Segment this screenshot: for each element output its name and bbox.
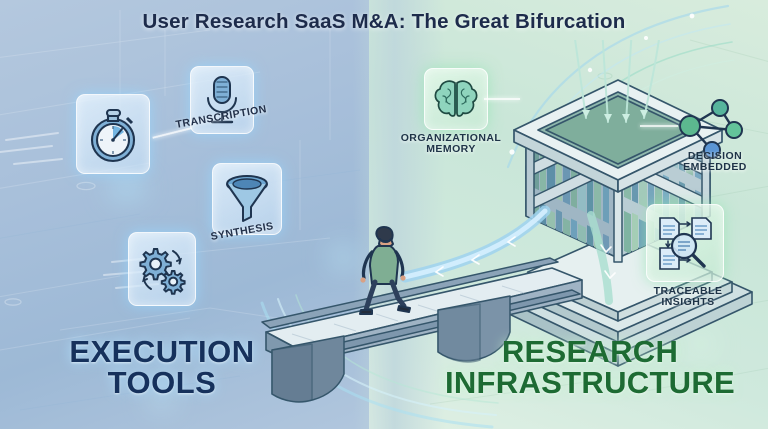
connector-organizational-memory [484, 98, 520, 100]
label-decision-embedded: DECISION EMBEDDED [662, 151, 768, 174]
card-traceable-insights[interactable] [646, 204, 724, 282]
card-gears[interactable] [128, 232, 196, 306]
label-line2: MEMORY [426, 143, 476, 155]
left-heading: EXECUTION TOOLS [22, 336, 302, 398]
right-heading-line2: INFRASTRUCTURE [420, 367, 760, 398]
label-traceable-insights: TRACEABLE INSIGHTS [638, 286, 738, 309]
traceable-documents-icon [652, 210, 718, 276]
page-title: User Research SaaS M&A: The Great Bifurc… [0, 10, 768, 34]
walking-person [352, 222, 418, 318]
brain-icon [432, 77, 480, 121]
right-heading-line1: RESEARCH [420, 336, 760, 367]
card-organizational-memory[interactable] [424, 68, 488, 130]
stopwatch-icon [82, 101, 144, 167]
label-organizational-memory: ORGANIZATIONAL MEMORY [395, 133, 507, 156]
card-stopwatch[interactable] [76, 94, 150, 174]
infographic-canvas: User Research SaaS M&A: The Great Bifurc… [0, 0, 768, 429]
connector-decision-embedded [640, 125, 678, 127]
left-heading-line2: TOOLS [22, 367, 302, 398]
label-line2: EMBEDDED [683, 161, 747, 173]
right-heading: RESEARCH INFRASTRUCTURE [420, 336, 760, 398]
gears-icon [133, 239, 191, 299]
funnel-icon [220, 171, 274, 227]
left-heading-line1: EXECUTION [22, 336, 302, 367]
label-line2: INSIGHTS [661, 296, 714, 308]
